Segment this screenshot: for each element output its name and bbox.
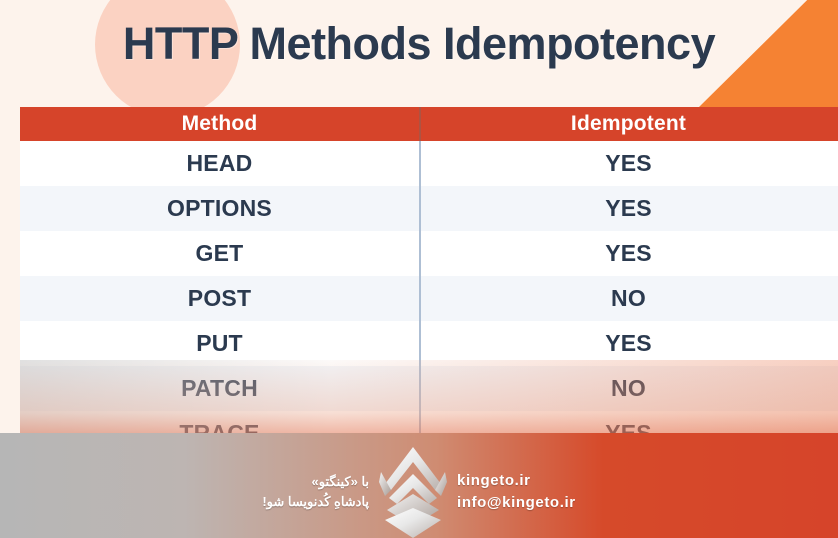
table-row[interactable]: PATCH NO xyxy=(20,366,838,411)
table-header-row: Method Idempotent xyxy=(20,107,838,141)
footer-contact: kingeto.ir info@kingeto.ir xyxy=(457,470,576,514)
table-row[interactable]: HEAD YES xyxy=(20,141,838,186)
footer-email[interactable]: info@kingeto.ir xyxy=(457,492,576,514)
cell-idempotent: YES xyxy=(419,330,838,357)
table-body: HEAD YES OPTIONS YES GET YES POST NO PUT… xyxy=(20,141,838,456)
table-row[interactable]: GET YES xyxy=(20,231,838,276)
cell-idempotent: YES xyxy=(419,240,838,267)
kingeto-crown-logo-icon xyxy=(377,444,449,538)
cell-method: PUT xyxy=(20,330,419,357)
cell-idempotent: YES xyxy=(419,150,838,177)
column-header-method: Method xyxy=(20,112,419,136)
table-row[interactable]: POST NO xyxy=(20,276,838,321)
cell-idempotent: YES xyxy=(419,195,838,222)
cell-idempotent: NO xyxy=(419,285,838,312)
cell-method: OPTIONS xyxy=(20,195,419,222)
footer-website[interactable]: kingeto.ir xyxy=(457,470,576,492)
cell-method: POST xyxy=(20,285,419,312)
column-header-idempotent: Idempotent xyxy=(419,112,838,136)
footer-slogan-line-1: با «کینگتو» xyxy=(262,472,369,492)
footer-slogan-line-2: پادشاهِ کُدنویسا شو! xyxy=(262,492,369,512)
cell-method: GET xyxy=(20,240,419,267)
column-divider-body xyxy=(419,141,421,456)
footer-slogan: با «کینگتو» پادشاهِ کُدنویسا شو! xyxy=(262,472,369,511)
cell-idempotent: NO xyxy=(419,375,838,402)
column-divider-header xyxy=(419,107,421,141)
idempotency-table: Method Idempotent HEAD YES OPTIONS YES G… xyxy=(20,107,838,456)
footer-banner: با «کینگتو» پادشاهِ کُدنویسا شو! xyxy=(0,433,838,538)
page-title: HTTP Methods Idempotency xyxy=(0,18,838,70)
table-row[interactable]: PUT YES xyxy=(20,321,838,366)
cell-method: PATCH xyxy=(20,375,419,402)
cell-method: HEAD xyxy=(20,150,419,177)
table-row[interactable]: OPTIONS YES xyxy=(20,186,838,231)
infographic-canvas: HTTP Methods Idempotency Method Idempote… xyxy=(0,0,838,538)
